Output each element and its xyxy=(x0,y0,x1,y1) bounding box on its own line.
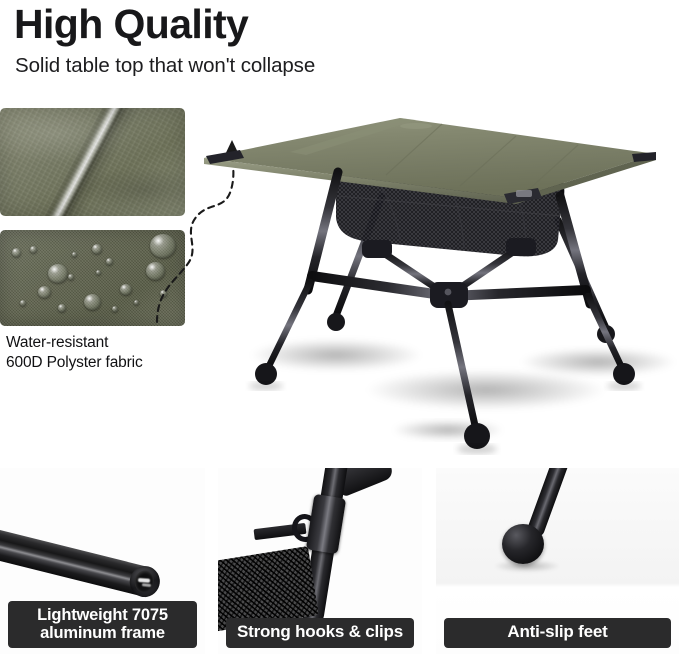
water-droplet xyxy=(96,270,101,275)
folding-camp-table-photo xyxy=(186,100,679,460)
lightweight-frame-panel: Lightweight 7075 aluminum frame xyxy=(0,468,205,654)
tabletop xyxy=(204,118,656,204)
tube-specular-highlight xyxy=(138,578,150,583)
panel-caption: Lightweight 7075 aluminum frame xyxy=(8,601,197,648)
ball-foot xyxy=(613,363,635,385)
joint-left xyxy=(362,240,392,258)
water-droplet xyxy=(84,294,101,310)
infographic-page: High Quality Solid table top that won't … xyxy=(0,0,679,654)
hooks-clips-panel: Strong hooks & clips xyxy=(218,468,422,654)
table-leg-front-center xyxy=(448,304,476,430)
water-droplet xyxy=(58,304,66,312)
ball-foot xyxy=(327,313,345,331)
water-resistant-label-line1: Water-resistant xyxy=(6,333,143,353)
water-droplet xyxy=(38,286,51,298)
water-droplet xyxy=(30,246,37,253)
ball-foot xyxy=(255,363,277,385)
water-droplet xyxy=(112,306,118,312)
panel-caption: Strong hooks & clips xyxy=(226,618,414,648)
water-resistant-label: Water-resistant 600D Polyster fabric xyxy=(6,333,143,373)
water-droplet xyxy=(20,300,26,306)
anti-slip-feet-panel: Anti-slip feet xyxy=(436,468,679,654)
page-subtitle: Solid table top that won't collapse xyxy=(15,54,315,78)
water-droplet xyxy=(106,258,113,265)
rubber-ball-foot xyxy=(502,524,544,564)
joint-right xyxy=(506,238,536,256)
clip-collar xyxy=(306,494,346,554)
brand-logo-mark xyxy=(400,123,432,129)
aluminum-tube xyxy=(0,524,156,598)
water-droplet xyxy=(68,274,74,280)
water-droplet xyxy=(92,244,102,254)
water-droplet xyxy=(134,300,139,305)
water-droplet xyxy=(72,252,77,257)
water-droplet xyxy=(120,284,132,295)
panel-caption-line2: aluminum frame xyxy=(12,624,193,642)
water-droplet xyxy=(48,264,68,283)
panel-caption: Anti-slip feet xyxy=(444,618,671,648)
panel-caption-line1: Lightweight 7075 xyxy=(12,606,193,624)
water-resistant-label-line2: 600D Polyster fabric xyxy=(6,353,143,373)
page-title: High Quality xyxy=(14,2,248,46)
water-droplet xyxy=(12,248,21,257)
